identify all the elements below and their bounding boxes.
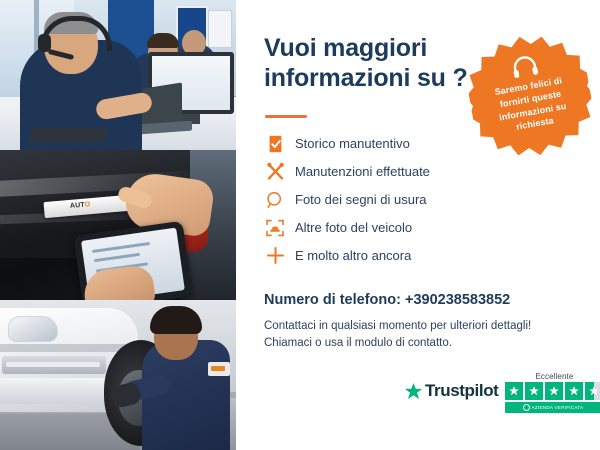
keyboard	[28, 128, 107, 142]
magnifier-icon	[264, 189, 286, 211]
advert-banner: AUTO	[0, 0, 600, 450]
trustpilot-rating-label: Eccellente	[535, 372, 573, 381]
trustpilot-star-icon	[404, 382, 423, 401]
call-center-agents-photo	[0, 0, 236, 150]
photo-column: AUTO	[0, 0, 236, 450]
feature-list: Storico manutentivo Manutenzioni effettu…	[264, 130, 514, 270]
star-3	[545, 382, 563, 400]
inspection-strip-logo: AUTO	[70, 201, 91, 210]
car-scan-icon	[264, 217, 286, 239]
trustpilot-rating: Eccellente	[505, 372, 600, 413]
car-headlight	[8, 316, 58, 342]
car-hood-line	[0, 344, 136, 352]
star-5-partial	[585, 382, 600, 400]
star-4	[565, 382, 583, 400]
wrench-screwdriver-icon	[264, 161, 286, 183]
feature-item-service-history: Storico manutentivo	[264, 130, 514, 157]
feature-label: Altre foto del veicolo	[295, 221, 412, 234]
star-2	[525, 382, 543, 400]
feature-item-much-more: E molto altro ancora	[264, 242, 514, 269]
feature-label: E molto altro ancora	[295, 249, 411, 262]
uniform-logo-patch	[208, 362, 230, 376]
vehicle-inspection-photo: AUTO	[0, 150, 236, 300]
feature-item-wear-photos: Foto dei segni di usura	[264, 186, 514, 213]
content-panel: Vuoi maggiori informazioni su ? Saremo f…	[236, 0, 600, 450]
trustpilot-widget[interactable]: Trustpilot Eccellente	[404, 372, 600, 413]
mechanic-wheel-photo	[0, 300, 236, 450]
car-bumper	[0, 378, 118, 404]
feature-label: Foto dei segni di usura	[295, 193, 427, 206]
headset-icon	[510, 53, 539, 79]
verified-label: AZIENDA VERIFICATA	[532, 405, 584, 410]
verified-company-badge: AZIENDA VERIFICATA	[505, 402, 600, 413]
trustpilot-wordmark: Trustpilot	[425, 381, 498, 401]
phone-number[interactable]: Numero di telefono: +390238583852	[264, 292, 510, 308]
wall-poster-2	[208, 10, 232, 48]
contact-line-1: Contattaci in qualsiasi momento per ulte…	[264, 318, 564, 335]
document-check-icon	[264, 133, 286, 155]
trustpilot-logo: Trustpilot	[404, 381, 498, 401]
car-grille	[2, 356, 106, 374]
feature-item-maintenance-done: Manutenzioni effettuate	[264, 158, 514, 185]
mechanic-hair	[150, 306, 202, 334]
feature-item-more-photos: Altre foto del veicolo	[264, 214, 514, 241]
star-1	[505, 382, 523, 400]
feature-label: Manutenzioni effettuate	[295, 165, 430, 178]
feature-label: Storico manutentivo	[295, 137, 410, 150]
background-worker-2-hair	[147, 33, 179, 48]
plus-icon	[264, 245, 286, 267]
check-circle-icon	[523, 404, 530, 411]
page-title: Vuoi maggiori informazioni su ?	[264, 34, 474, 93]
contact-line-2: Chiamaci o usa il modulo di contatto.	[264, 335, 564, 352]
trustpilot-star-row	[505, 382, 600, 400]
title-divider	[265, 115, 307, 118]
contact-text: Contattaci in qualsiasi momento per ulte…	[264, 318, 564, 353]
